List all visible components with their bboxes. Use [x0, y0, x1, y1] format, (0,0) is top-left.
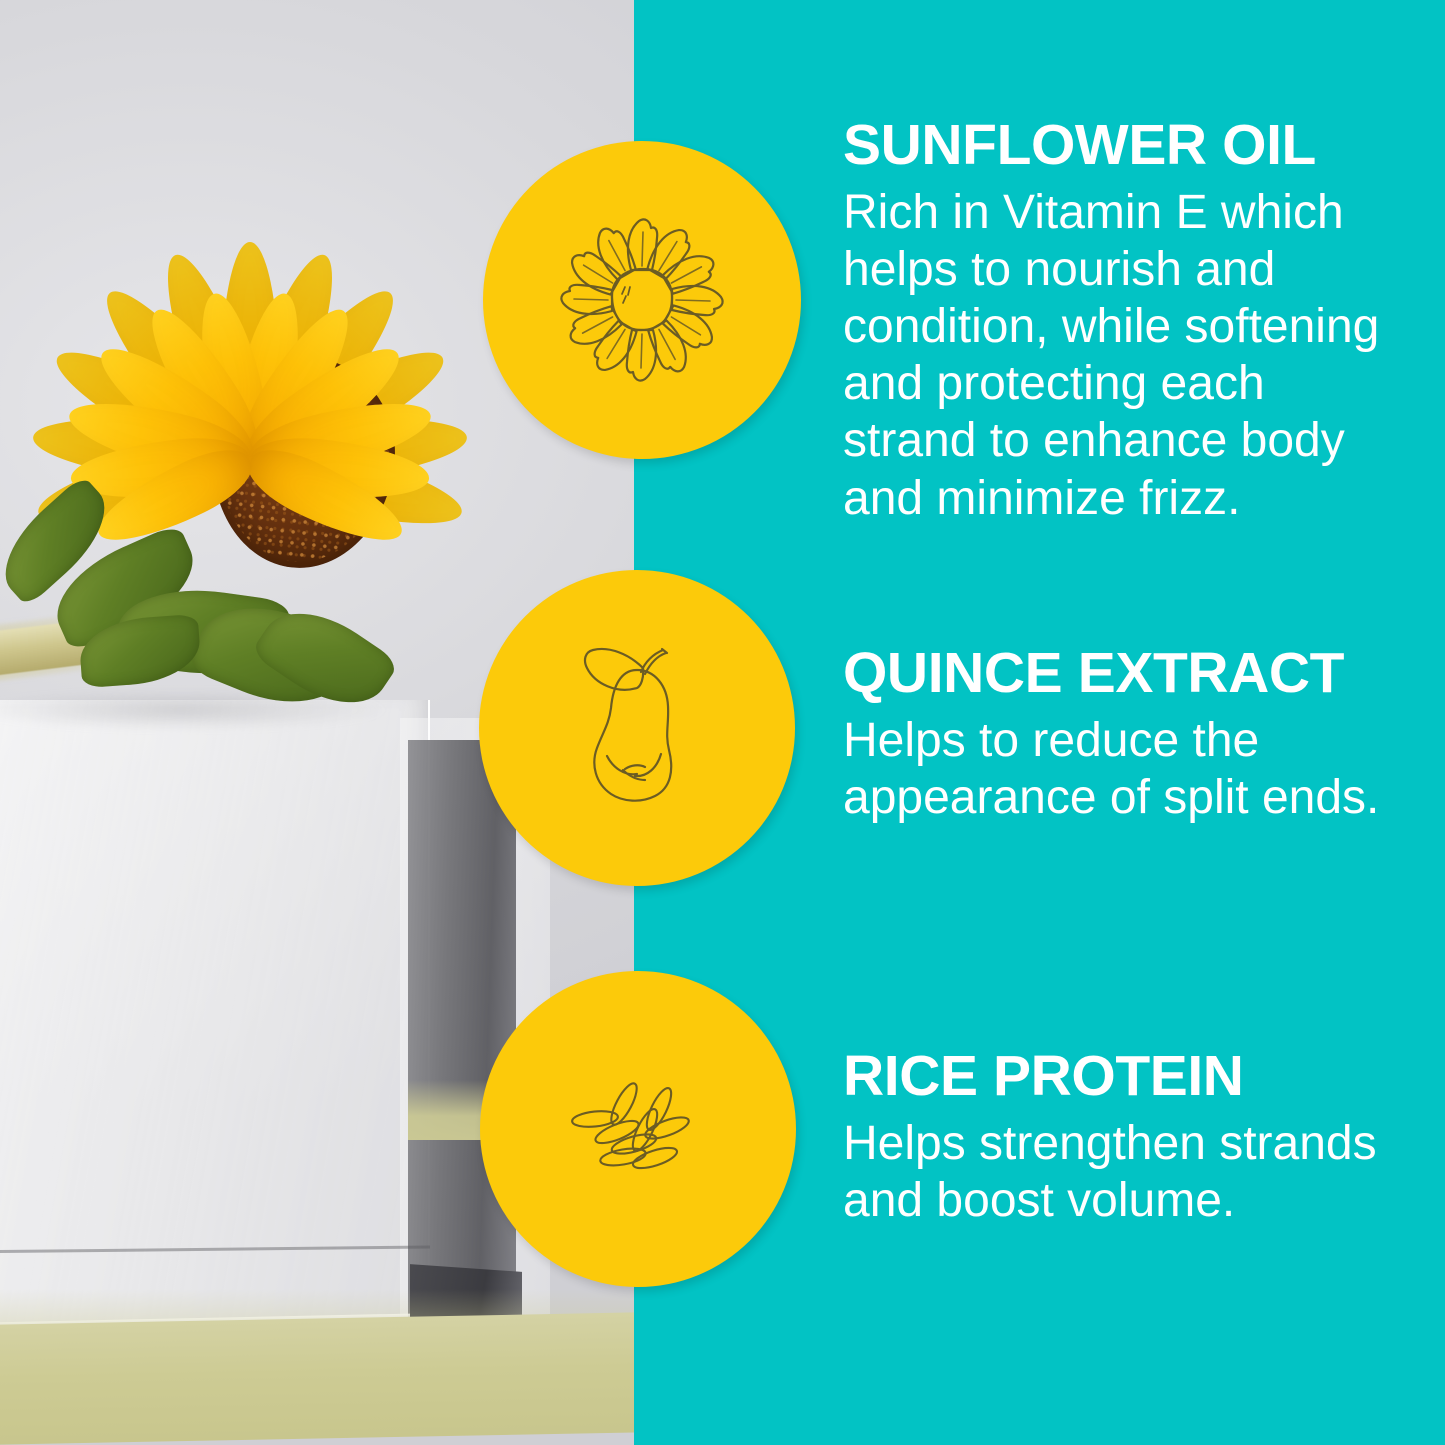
sunflower-icon	[542, 200, 742, 400]
feature-body: Helps to reduce the appearance of split …	[843, 712, 1403, 826]
sunflower-photo	[0, 180, 570, 740]
acrylic-block-face	[0, 700, 430, 1360]
feature-text-rice-protein: RICE PROTEIN Helps strengthen strands an…	[843, 1048, 1403, 1229]
feature-text-quince-extract: QUINCE EXTRACT Helps to reduce the appea…	[843, 645, 1403, 826]
pear-quince-icon	[537, 628, 737, 828]
feature-body: Rich in Vitamin E which helps to nourish…	[843, 184, 1403, 527]
acrylic-block-side	[408, 740, 516, 1340]
rice-grains-icon-badge	[480, 971, 796, 1287]
feature-text-sunflower-oil: SUNFLOWER OIL Rich in Vitamin E which he…	[843, 117, 1403, 527]
pear-quince-icon-badge	[479, 570, 795, 886]
sunflower-icon-badge	[483, 141, 801, 459]
ingredient-infographic: SUNFLOWER OIL Rich in Vitamin E which he…	[0, 0, 1445, 1445]
rice-grains-icon	[538, 1029, 738, 1229]
feature-title: SUNFLOWER OIL	[843, 117, 1403, 174]
feature-title: RICE PROTEIN	[843, 1048, 1403, 1105]
olive-table-surface	[0, 1312, 634, 1445]
feature-title: QUINCE EXTRACT	[843, 645, 1403, 702]
feature-body: Helps strengthen strands and boost volum…	[843, 1115, 1403, 1229]
